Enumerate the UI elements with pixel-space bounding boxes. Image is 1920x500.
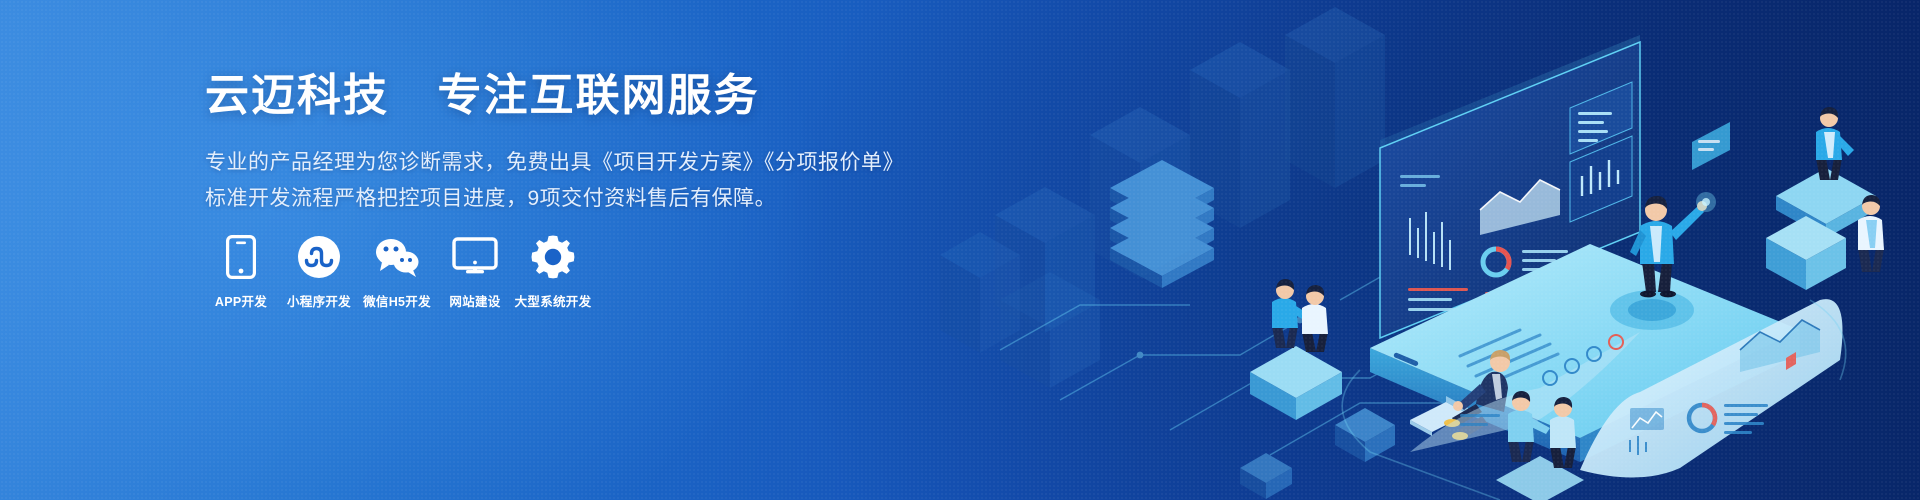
service-item-miniprogram[interactable]: 小程序开发: [283, 234, 355, 310]
service-item-wechat[interactable]: 微信H5开发: [361, 234, 433, 310]
floating-cubes: [1240, 408, 1395, 499]
person-platform-lower-left: [1250, 279, 1342, 420]
banner-subtitle-line-2: 标准开发流程严格把控项目进度，9项交付资料售后有保障。: [205, 182, 776, 212]
gear-icon: [530, 234, 576, 280]
service-label-app: APP开发: [215, 291, 267, 310]
service-label-website: 网站建设: [449, 291, 500, 310]
service-item-app[interactable]: APP开发: [205, 234, 277, 310]
service-label-system: 大型系统开发: [515, 291, 592, 310]
banner-headline: 云迈科技 专注互联网服务: [205, 72, 759, 120]
illustration-panel: [940, 0, 1920, 500]
mini-program-icon: [296, 234, 342, 280]
mobile-phone-icon: [218, 234, 264, 280]
service-icon-list: APP开发 小程序开发: [205, 234, 595, 310]
service-label-miniprogram: 小程序开发: [287, 291, 351, 310]
hero-banner: 云迈科技 专注互联网服务 专业的产品经理为您诊断需求，免费出具《项目开发方案》《…: [0, 0, 1920, 500]
monitor-icon: [452, 234, 498, 280]
floating-ui-card: [1692, 122, 1730, 170]
headline-brand: 云迈科技: [205, 71, 389, 120]
service-item-website[interactable]: 网站建设: [439, 234, 511, 310]
isometric-tech-illustration: [940, 0, 1920, 500]
service-item-system[interactable]: 大型系统开发: [517, 234, 589, 310]
banner-content: 云迈科技 专注互联网服务 专业的产品经理为您诊断需求，免费出具《项目开发方案》《…: [205, 0, 965, 500]
headline-tagline: 专注互联网服务: [437, 71, 759, 120]
banner-subtitle-line-1: 专业的产品经理为您诊断需求，免费出具《项目开发方案》《分项报价单》: [205, 146, 904, 176]
wechat-bubbles-icon: [374, 234, 420, 280]
service-label-wechat: 微信H5开发: [363, 291, 431, 310]
